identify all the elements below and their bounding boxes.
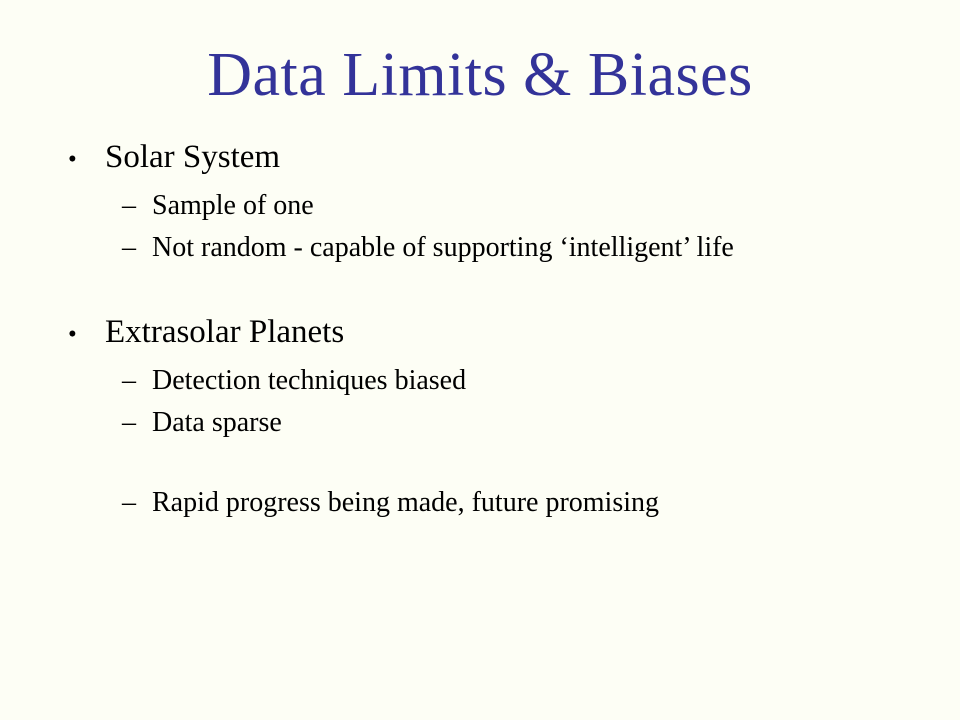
- sub-bullet-text: Not random - capable of supporting ‘inte…: [152, 227, 920, 269]
- sub-bullet-item-rapid-progress: – Rapid progress being made, future prom…: [122, 482, 920, 524]
- sub-bullet-text: Detection techniques biased: [152, 360, 920, 402]
- sub-bullet-item-sample-of-one: – Sample of one: [122, 185, 920, 227]
- blank-line-spacer: [60, 444, 920, 482]
- presentation-slide: Data Limits & Biases • Solar System – Sa…: [0, 0, 960, 720]
- sub-bullet-text: Rapid progress being made, future promis…: [152, 482, 920, 524]
- slide-title: Data Limits & Biases: [0, 40, 960, 110]
- sub-bullet-text: Data sparse: [152, 402, 920, 444]
- bullet-text: Solar System: [105, 136, 920, 178]
- sub-bullet-item-detection-techniques-biased: – Detection techniques biased: [122, 360, 920, 402]
- sub-bullet-item-data-sparse: – Data sparse: [122, 402, 920, 444]
- bullet-item-solar-system: • Solar System: [60, 136, 920, 181]
- bullet-text: Extrasolar Planets: [105, 311, 920, 353]
- bullet-marker-dash: –: [122, 185, 152, 227]
- sub-bullet-item-not-random: – Not random - capable of supporting ‘in…: [122, 227, 920, 269]
- sub-bullet-text: Sample of one: [152, 185, 920, 227]
- blank-line-spacer: [60, 269, 920, 311]
- bullet-marker-dash: –: [122, 402, 152, 444]
- bullet-marker-dash: –: [122, 360, 152, 402]
- bullet-item-extrasolar-planets: • Extrasolar Planets: [60, 311, 920, 356]
- bullet-marker-dot: •: [60, 314, 105, 356]
- bullet-marker-dot: •: [60, 139, 105, 181]
- bullet-marker-dash: –: [122, 227, 152, 269]
- slide-body: • Solar System – Sample of one – Not ran…: [60, 136, 920, 524]
- bullet-marker-dash: –: [122, 482, 152, 524]
